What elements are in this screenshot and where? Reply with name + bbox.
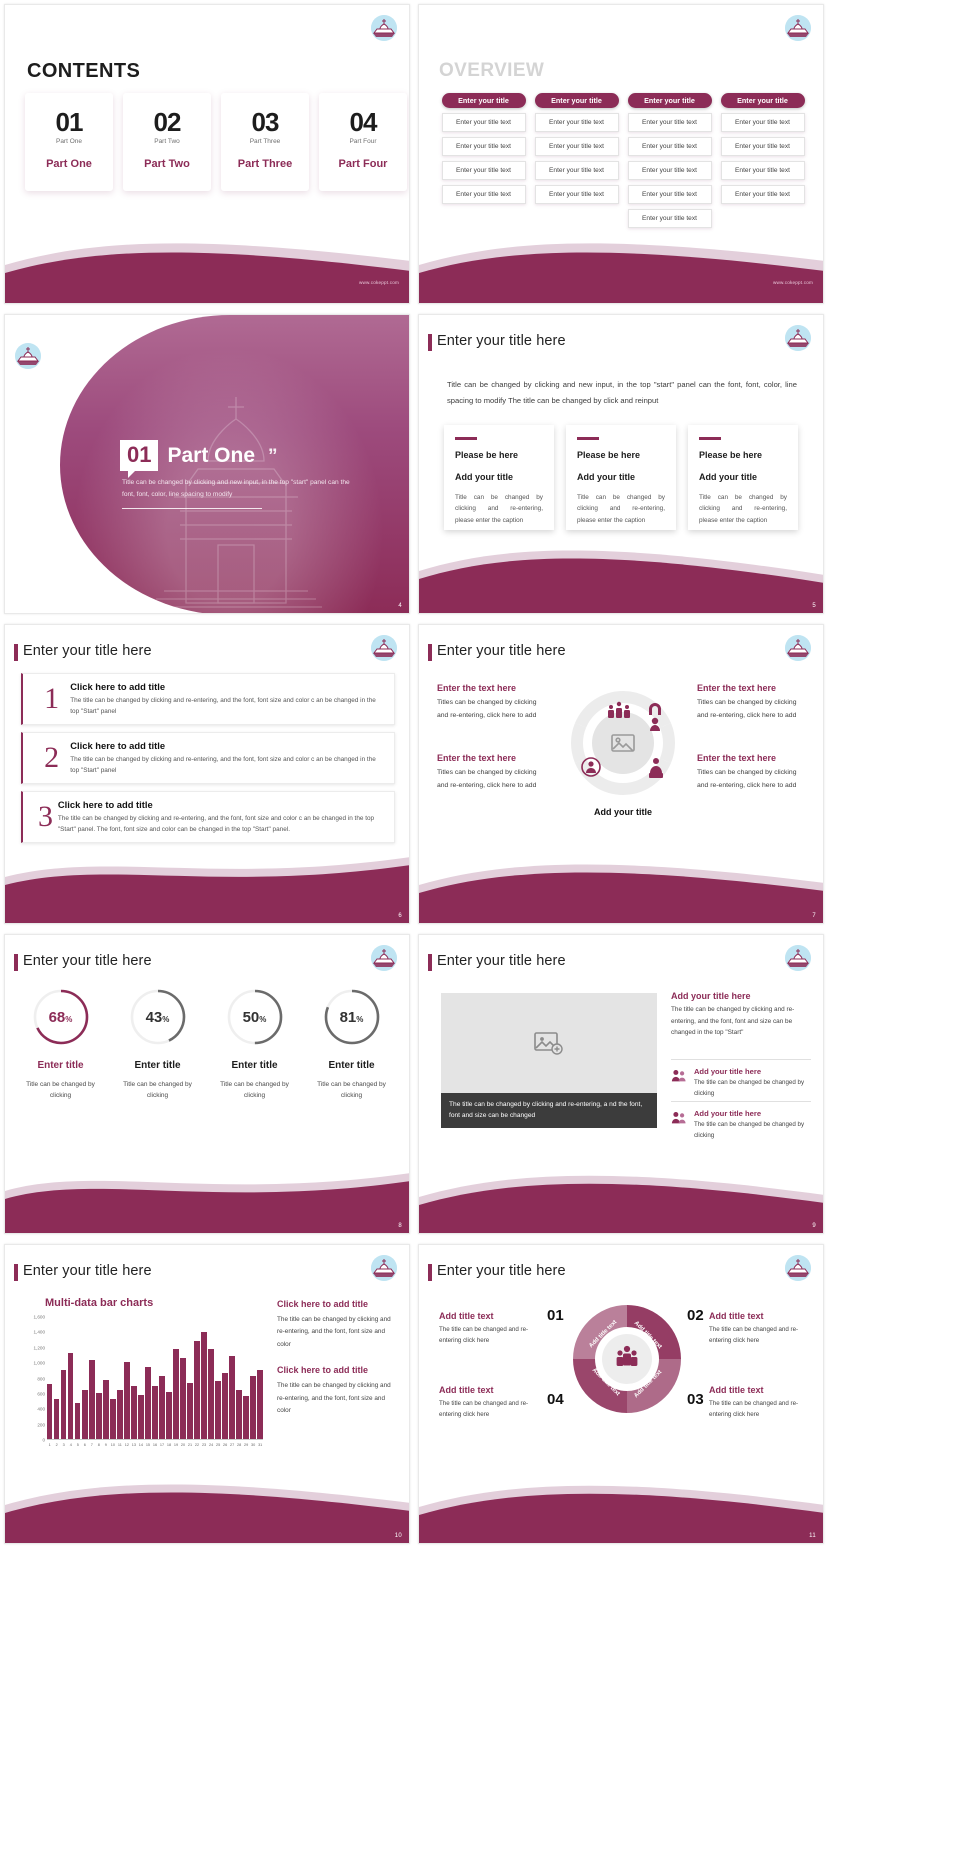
brand-logo-icon (371, 635, 397, 661)
brand-logo-icon (785, 635, 811, 661)
page-title: Enter your title here (23, 1263, 152, 1279)
footer-wave (5, 1471, 410, 1543)
donut-body: Title can be changed by clicking (310, 1079, 393, 1101)
chart-bar (243, 1396, 248, 1439)
card-heading-line2: Add your title (699, 471, 787, 484)
x-tick-label: 8 (96, 1443, 101, 1447)
row-title: Click here to add title (70, 740, 384, 751)
page-title: OVERVIEW (439, 60, 544, 82)
person-pair-icon (671, 1067, 687, 1085)
slide-percentage-donuts[interactable]: Enter your title here 68% (4, 934, 410, 1234)
label-body: Titles can be changed by clicking and re… (697, 766, 809, 793)
hero-caption: 01Part One” Title can be changed by clic… (120, 440, 350, 509)
donut-item[interactable]: 43% Enter title Title can be changed by … (116, 987, 199, 1101)
card-heading-line2: Add your title (455, 471, 543, 484)
diagram-label-top-right: Enter the text here Titles can be change… (697, 683, 809, 723)
donut-title: Enter title (213, 1060, 296, 1071)
page-title: Enter your title here (437, 643, 566, 659)
donut-ring-50: 50% (225, 987, 285, 1047)
footer-wave (419, 231, 824, 303)
card-label: Part Three (238, 158, 292, 170)
title-accent-bar (14, 1264, 18, 1281)
footer-wave (419, 541, 824, 613)
column-header-pill[interactable]: Enter your title (442, 93, 526, 108)
x-tick-label: 19 (173, 1443, 178, 1447)
brand-logo-icon (371, 15, 397, 41)
overview-column: Enter your title Enter your title text E… (720, 93, 805, 228)
diagram-label-bottom-right: Enter the text here Titles can be change… (697, 753, 809, 793)
y-tick-label: 0 (42, 1438, 45, 1443)
section-body: Title can be changed by clicking and new… (122, 477, 350, 500)
quote-mark-icon: ” (268, 446, 278, 467)
page-number: 9 (812, 1223, 816, 1229)
card-label: Part One (46, 158, 92, 170)
chart-bar (173, 1349, 178, 1439)
x-tick-label: 30 (250, 1443, 255, 1447)
side-note[interactable]: Click here to add title The title can be… (277, 1299, 395, 1351)
overview-cell[interactable]: Enter your title text (628, 209, 712, 228)
overview-cell[interactable]: Enter your title text (535, 161, 619, 180)
card-accent-dash (455, 437, 477, 440)
column-header-pill[interactable]: Enter your title (721, 93, 805, 108)
page-title: Enter your title here (437, 953, 566, 969)
x-tick-label: 15 (145, 1443, 150, 1447)
note-title: Click here to add title (277, 1365, 395, 1375)
donut-ring-68: 68% (31, 987, 91, 1047)
chart-bar (236, 1390, 241, 1439)
slide-section-divider[interactable]: 01Part One” Title can be changed by clic… (4, 314, 410, 614)
x-tick-label: 22 (194, 1443, 199, 1447)
note-body: The title can be changed by clicking and… (277, 1380, 395, 1417)
overview-cell[interactable]: Enter your title text (628, 185, 712, 204)
slide-deck: CONTENTS 01 Part One Part One 02 Part Tw… (0, 0, 960, 1850)
cycle-number-01: 01 (547, 1307, 564, 1324)
row-body: The title can be changed by clicking and… (70, 754, 384, 776)
chart-bar (215, 1381, 220, 1439)
cycle-label-bottom-left[interactable]: Add title text The title can be changed … (439, 1385, 535, 1420)
label-title: Add title text (439, 1385, 535, 1395)
card-row: Please be here Add your title Title can … (444, 425, 798, 530)
x-tick-label: 29 (243, 1443, 248, 1447)
y-tick-label: 400 (37, 1407, 45, 1412)
overview-cell[interactable]: Enter your title text (535, 137, 619, 156)
card-body: Title can be changed by clicking and re-… (455, 492, 543, 528)
card-subtitle: Part One (56, 138, 82, 145)
divider-rule (122, 508, 262, 509)
label-body: The title can be changed and re-entering… (439, 1398, 535, 1420)
chart-bar (47, 1384, 52, 1439)
label-title: Add title text (709, 1311, 805, 1321)
row-number: 3 (33, 802, 58, 832)
overview-cell[interactable]: Enter your title text (442, 137, 526, 156)
x-tick-label: 3 (61, 1443, 66, 1447)
label-body: Titles can be changed by clicking and re… (437, 696, 549, 723)
image-placeholder-icon (534, 1030, 564, 1056)
lead-paragraph: Title can be changed by clicking and new… (447, 377, 797, 408)
brand-logo-icon (371, 945, 397, 971)
note-title: Click here to add title (277, 1299, 395, 1309)
card-accent-dash (699, 437, 721, 440)
label-body: The title can be changed and re-entering… (709, 1324, 805, 1346)
x-tick-label: 1 (47, 1443, 52, 1447)
list-item[interactable]: 2 Click here to add title The title can … (21, 732, 395, 784)
donut-ring-81: 81% (322, 987, 382, 1047)
page-title: Enter your title here (437, 333, 566, 349)
column-header-pill[interactable]: Enter your title (535, 93, 619, 108)
label-body: Titles can be changed by clicking and re… (697, 696, 809, 723)
section-number: 01 (120, 440, 158, 471)
contents-card[interactable]: 01 Part One Part One (25, 93, 113, 191)
row-number: 1 (33, 684, 70, 714)
card-heading-line1: Please be here (455, 449, 543, 462)
diagram-label-bottom-left: Enter the text here Titles can be change… (437, 753, 549, 793)
donut-body: Title can be changed by clicking (213, 1079, 296, 1101)
x-tick-label: 28 (236, 1443, 241, 1447)
item-body: The title can be changed be changed by c… (694, 1120, 811, 1141)
chart-bar (131, 1386, 136, 1439)
label-title: Enter the text here (437, 753, 549, 763)
card-body: Title can be changed by clicking and re-… (699, 492, 787, 528)
label-title: Add title text (439, 1311, 535, 1321)
brand-logo-icon (785, 325, 811, 351)
row-body: The title can be changed by clicking and… (58, 813, 384, 835)
card-number: 03 (252, 109, 279, 135)
overview-cell[interactable]: Enter your title text (442, 161, 526, 180)
chart-bar (68, 1353, 73, 1439)
overview-cell[interactable]: Enter your title text (628, 161, 712, 180)
page-number: 5 (812, 603, 816, 609)
overview-cell[interactable]: Enter your title text (721, 113, 805, 132)
chart-bar (180, 1358, 185, 1439)
info-card[interactable]: Please be here Add your title Title can … (566, 425, 676, 530)
chart-bar (75, 1403, 80, 1439)
chart-x-axis: 1234567891011121314151617181920212223242… (47, 1443, 263, 1447)
title-accent-bar (428, 1264, 432, 1281)
slide-numbered-list[interactable]: Enter your title here 1 Click here to ad… (4, 624, 410, 924)
overview-cell[interactable]: Enter your title text (721, 185, 805, 204)
chart-bar (166, 1392, 171, 1439)
slide-three-cards[interactable]: Enter your title here Title can be chang… (418, 314, 824, 614)
note-body: The title can be changed by clicking and… (277, 1314, 395, 1351)
card-number: 01 (56, 109, 83, 135)
x-tick-label: 31 (257, 1443, 262, 1447)
label-title: Add title text (709, 1385, 805, 1395)
hero-region: 01Part One” Title can be changed by clic… (5, 315, 409, 613)
card-number: 02 (154, 109, 181, 135)
y-tick-label: 800 (37, 1376, 45, 1381)
chart-bar (82, 1390, 87, 1439)
cycle-number-03: 03 (687, 1391, 704, 1408)
x-tick-label: 9 (103, 1443, 108, 1447)
card-accent-dash (577, 437, 599, 440)
chart-bar (89, 1360, 94, 1439)
side-body: The title can be changed by clicking and… (671, 1004, 807, 1039)
donut-title: Enter title (310, 1060, 393, 1071)
page-number: 8 (398, 1223, 402, 1229)
slide-contents[interactable]: CONTENTS 01 Part One Part One 02 Part Tw… (4, 4, 410, 304)
overview-cell[interactable]: Enter your title text (628, 113, 712, 132)
overview-cell[interactable]: Enter your title text (721, 137, 805, 156)
donut-item[interactable]: 68% Enter title Title can be changed by … (19, 987, 102, 1101)
donut-item[interactable]: 50% Enter title Title can be changed by … (213, 987, 296, 1101)
footer-wave (419, 851, 824, 923)
bar-chart: 02004006008001,0001,2001,4001,600 123456… (23, 1317, 263, 1457)
slide-circle-diagram[interactable]: Enter your title here Enter the text her… (418, 624, 824, 924)
chart-bar (96, 1393, 101, 1439)
x-tick-label: 7 (89, 1443, 94, 1447)
chart-bar (194, 1341, 199, 1439)
list-item[interactable]: 1 Click here to add title The title can … (21, 673, 395, 725)
brand-logo-icon (785, 1255, 811, 1281)
footer-wave (5, 851, 410, 923)
brand-logo-icon (371, 1255, 397, 1281)
x-tick-label: 17 (159, 1443, 164, 1447)
footer-wave (419, 1471, 824, 1543)
side-note[interactable]: Click here to add title The title can be… (277, 1365, 395, 1417)
item-title: Add your title here (694, 1109, 811, 1118)
footer-wave (419, 1161, 824, 1233)
donut-title: Enter title (19, 1060, 102, 1071)
x-tick-label: 12 (124, 1443, 129, 1447)
card-number: 04 (350, 109, 377, 135)
y-tick-label: 600 (37, 1391, 45, 1396)
label-body: The title can be changed and re-entering… (709, 1398, 805, 1420)
contents-card[interactable]: 04 Part Four Part Four (319, 93, 407, 191)
card-heading-line2: Add your title (577, 471, 665, 484)
chart-title: Multi-data bar charts (45, 1297, 153, 1309)
x-tick-label: 23 (201, 1443, 206, 1447)
list-item[interactable]: Add your title here The title can be cha… (671, 1059, 811, 1099)
title-accent-bar (428, 954, 432, 971)
x-tick-label: 14 (138, 1443, 143, 1447)
list-item[interactable]: 3 Click here to add title The title can … (21, 791, 395, 843)
chart-bar (110, 1399, 115, 1439)
chart-y-axis: 02004006008001,0001,2001,4001,600 (23, 1317, 45, 1440)
x-tick-label: 27 (229, 1443, 234, 1447)
x-tick-label: 10 (110, 1443, 115, 1447)
brand-logo-icon (785, 15, 811, 41)
overview-cell[interactable]: Enter your title text (442, 185, 526, 204)
donut-value: 81% (322, 987, 382, 1047)
page-title: CONTENTS (27, 60, 140, 83)
x-tick-label: 5 (75, 1443, 80, 1447)
y-tick-label: 200 (37, 1422, 45, 1427)
brand-logo-icon (15, 343, 41, 369)
donut-item[interactable]: 81% Enter title Title can be changed by … (310, 987, 393, 1101)
slide-cycle-diagram[interactable]: Enter your title here Add title text The… (418, 1244, 824, 1544)
overview-cell[interactable]: Enter your title text (535, 113, 619, 132)
donut-row: 68% Enter title Title can be changed by … (19, 987, 393, 1101)
chart-bar (138, 1395, 143, 1439)
y-tick-label: 1,000 (34, 1361, 46, 1366)
overview-column: Enter your title Enter your title text E… (534, 93, 619, 228)
overview-column: Enter your title Enter your title text E… (441, 93, 526, 228)
diagram-label-top-left: Enter the text here Titles can be change… (437, 683, 549, 723)
chart-bar (61, 1370, 66, 1439)
photo-caption: The title can be changed by clicking and… (441, 1093, 657, 1128)
chart-bar (54, 1399, 59, 1439)
overview-columns: Enter your title Enter your title text E… (441, 93, 805, 228)
x-tick-label: 4 (68, 1443, 73, 1447)
x-tick-label: 13 (131, 1443, 136, 1447)
item-title: Add your title here (694, 1067, 811, 1076)
row-title: Click here to add title (58, 799, 384, 810)
slide-image-list[interactable]: Enter your title here The title can be c… (418, 934, 824, 1234)
slide-bar-chart[interactable]: Enter your title here Multi-data bar cha… (4, 1244, 410, 1544)
x-tick-label: 24 (208, 1443, 213, 1447)
numbered-row-list: 1 Click here to add title The title can … (21, 673, 395, 850)
chart-bar (229, 1356, 234, 1439)
footer-wave (5, 1161, 410, 1233)
page-number: 4 (398, 603, 402, 609)
overview-column: Enter your title Enter your title text E… (627, 93, 712, 228)
donut-value: 68% (31, 987, 91, 1047)
cycle-number-04: 04 (547, 1391, 564, 1408)
item-body: The title can be changed be changed by c… (694, 1078, 811, 1099)
overview-cell[interactable]: Enter your title text (721, 161, 805, 180)
segmented-ring-diagram (567, 687, 679, 799)
overview-cell[interactable]: Enter your title text (628, 137, 712, 156)
overview-cell[interactable]: Enter your title text (442, 113, 526, 132)
chart-bar (208, 1349, 213, 1439)
card-subtitle: Part Four (349, 138, 376, 145)
row-number: 2 (33, 743, 70, 773)
row-title: Click here to add title (70, 681, 384, 692)
footer-wave (5, 231, 410, 303)
chart-bar (152, 1386, 157, 1439)
x-tick-label: 6 (82, 1443, 87, 1447)
donut-body: Title can be changed by clicking (116, 1079, 199, 1101)
donut-ring-43: 43% (128, 987, 188, 1047)
chart-bar (201, 1332, 206, 1439)
x-tick-label: 20 (180, 1443, 185, 1447)
photo-placeholder[interactable] (441, 993, 657, 1093)
page-number: 10 (395, 1533, 402, 1539)
list-item[interactable]: Add your title here The title can be cha… (671, 1101, 811, 1141)
x-tick-label: 11 (117, 1443, 122, 1447)
chart-bar (222, 1373, 227, 1439)
watermark: www.cokeppt.com (359, 280, 399, 285)
cycle-label-bottom-right[interactable]: Add title text The title can be changed … (709, 1385, 805, 1420)
column-header-pill[interactable]: Enter your title (628, 93, 712, 108)
chart-bar (257, 1370, 262, 1439)
x-tick-label: 16 (152, 1443, 157, 1447)
card-subtitle: Part Three (250, 138, 281, 145)
chart-bar (159, 1376, 164, 1439)
chart-bar (250, 1376, 255, 1439)
info-card[interactable]: Please be here Add your title Title can … (444, 425, 554, 530)
watermark: www.cokeppt.com (773, 280, 813, 285)
title-accent-bar (428, 334, 432, 351)
cycle-number-02: 02 (687, 1307, 704, 1324)
cycle-label-top-right[interactable]: Add title text The title can be changed … (709, 1311, 805, 1346)
label-body: Titles can be changed by clicking and re… (437, 766, 549, 793)
page-number: 7 (812, 913, 816, 919)
card-heading-line1: Please be here (699, 449, 787, 462)
page-title: Enter your title here (23, 643, 152, 659)
chart-bar (145, 1367, 150, 1439)
y-tick-label: 1,600 (34, 1315, 46, 1320)
cycle-label-top-left[interactable]: Add title text The title can be changed … (439, 1311, 535, 1346)
x-tick-label: 2 (54, 1443, 59, 1447)
donut-body: Title can be changed by clicking (19, 1079, 102, 1101)
y-tick-label: 1,400 (34, 1330, 46, 1335)
diagram-center-label: Add your title (567, 807, 679, 817)
y-tick-label: 1,200 (34, 1345, 46, 1350)
slide-overview[interactable]: OVERVIEW Enter your title Enter your tit… (418, 4, 824, 304)
chart-bar (103, 1380, 108, 1439)
title-accent-bar (428, 644, 432, 661)
chart-bar (187, 1383, 192, 1439)
contents-card[interactable]: 03 Part Three Part Three (221, 93, 309, 191)
card-label: Part Two (144, 158, 190, 170)
card-heading-line1: Please be here (577, 449, 665, 462)
card-body: Title can be changed by clicking and re-… (577, 492, 665, 528)
donut-value: 50% (225, 987, 285, 1047)
info-card[interactable]: Please be here Add your title Title can … (688, 425, 798, 530)
x-tick-label: 18 (166, 1443, 171, 1447)
chart-bars (47, 1317, 263, 1440)
page-number: 6 (398, 913, 402, 919)
x-tick-label: 25 (215, 1443, 220, 1447)
title-accent-bar (14, 954, 18, 971)
section-title: Part One (167, 444, 255, 467)
page-number: 11 (809, 1533, 816, 1539)
card-label: Part Four (339, 158, 388, 170)
brand-logo-icon (785, 945, 811, 971)
donut-title: Enter title (116, 1060, 199, 1071)
overview-cell[interactable]: Enter your title text (535, 185, 619, 204)
title-accent-bar (14, 644, 18, 661)
page-title: Enter your title here (437, 1263, 566, 1279)
chart-bar (124, 1362, 129, 1439)
x-tick-label: 21 (187, 1443, 192, 1447)
label-title: Enter the text here (437, 683, 549, 693)
chart-bar (117, 1390, 122, 1439)
contents-card-list: 01 Part One Part One 02 Part Two Part Tw… (25, 93, 407, 191)
person-pair-icon (671, 1109, 687, 1127)
chart-side-notes: Click here to add title The title can be… (277, 1299, 395, 1432)
row-body: The title can be changed by clicking and… (70, 695, 384, 717)
label-body: The title can be changed and re-entering… (439, 1324, 535, 1346)
card-subtitle: Part Two (154, 138, 180, 145)
cycle-ring-diagram: Add title text Add title text Add title … (571, 1303, 683, 1415)
x-tick-label: 26 (222, 1443, 227, 1447)
label-title: Enter the text here (697, 753, 809, 763)
label-title: Enter the text here (697, 683, 809, 693)
donut-value: 43% (128, 987, 188, 1047)
side-title: Add your title here (671, 991, 751, 1001)
contents-card[interactable]: 02 Part Two Part Two (123, 93, 211, 191)
page-title: Enter your title here (23, 953, 152, 969)
